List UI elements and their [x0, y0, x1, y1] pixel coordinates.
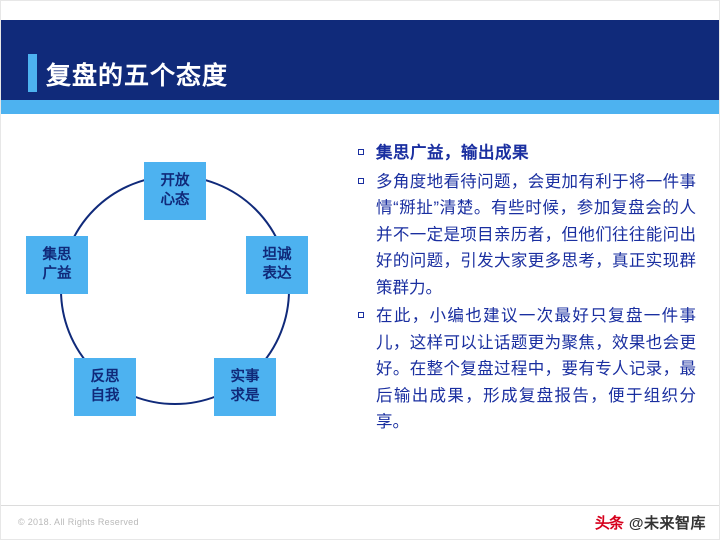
bullet-text: 多角度地看待问题，会更加有利于将一件事情“掰扯”清楚。有些时候，参加复盘会的人并… [376, 173, 696, 297]
bullet-marker-icon [358, 149, 364, 155]
bullet-item: 多角度地看待问题，会更加有利于将一件事情“掰扯”清楚。有些时候，参加复盘会的人并… [356, 169, 696, 302]
node-line-2: 表达 [263, 265, 292, 284]
cycle-diagram: 开放 心态 坦诚 表达 实事 求是 反思 自我 集思 广益 [10, 140, 350, 470]
node-line-1: 开放 [161, 172, 190, 191]
toutiao-logo: 头条 [595, 512, 623, 533]
bullet-text: 在此，小编也建议一次最好只复盘一件事儿，这样可以让话题更为聚焦，效果也会更好。在… [376, 307, 696, 431]
bullet-list: 集思广益，输出成果 多角度地看待问题，会更加有利于将一件事情“掰扯”清楚。有些时… [356, 140, 696, 438]
node-line-2: 心态 [161, 191, 190, 210]
node-line-2: 求是 [231, 387, 260, 406]
node-line-1: 坦诚 [263, 246, 292, 265]
footer-divider [0, 505, 720, 506]
node-line-1: 实事 [231, 368, 260, 387]
diagram-node-candid-expression: 坦诚 表达 [246, 236, 308, 294]
node-line-2: 广益 [43, 265, 72, 284]
diagram-node-open-mindset: 开放 心态 [144, 162, 206, 220]
bullet-marker-icon [358, 178, 364, 184]
diagram-node-collective-wisdom: 集思 广益 [26, 236, 88, 294]
title-accent-bar [28, 54, 37, 92]
bullet-item: 在此，小编也建议一次最好只复盘一件事儿，这样可以让话题更为聚焦，效果也会更好。在… [356, 303, 696, 436]
bullet-text: 集思广益，输出成果 [376, 144, 529, 162]
page-title: 复盘的五个态度 [46, 56, 228, 92]
diagram-node-self-reflection: 反思 自我 [74, 358, 136, 416]
title-underbar [0, 100, 720, 114]
node-line-1: 集思 [43, 246, 72, 265]
brand-watermark: 头条 @未来智库 [595, 512, 706, 533]
slide: 复盘的五个态度 开放 心态 坦诚 表达 实事 求是 反思 自我 集思 广益 集思… [0, 0, 720, 540]
title-band: 复盘的五个态度 [0, 20, 720, 100]
bullet-marker-icon [358, 312, 364, 318]
node-line-2: 自我 [91, 387, 120, 406]
diagram-node-seek-truth: 实事 求是 [214, 358, 276, 416]
node-line-1: 反思 [91, 368, 120, 387]
brand-name: @未来智库 [629, 512, 706, 533]
bullet-item: 集思广益，输出成果 [356, 140, 696, 167]
copyright-text: © 2018. All Rights Reserved [18, 517, 139, 527]
